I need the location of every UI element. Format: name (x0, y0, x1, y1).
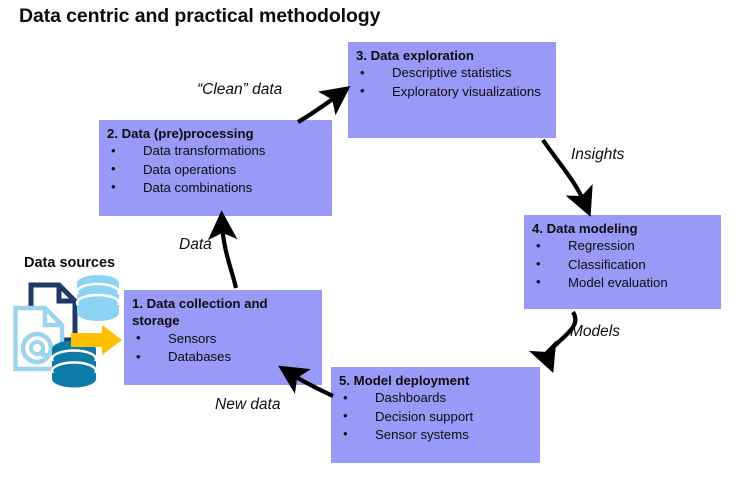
bullet-icon: • (111, 160, 116, 178)
bullet-icon: • (111, 142, 116, 160)
edge-label-clean-data: “Clean” data (197, 81, 282, 99)
bullet-icon: • (536, 273, 541, 291)
list-item-label: Classification (568, 257, 646, 272)
edge-label-data: Data (179, 236, 212, 254)
box-5-title: 5. Model deployment (331, 367, 540, 389)
box-2-list: •Data transformations •Data operations •… (99, 142, 332, 197)
list-item: •Exploratory visualizations (358, 83, 550, 101)
list-item-label: Model evaluation (568, 275, 668, 290)
bullet-icon: • (536, 237, 541, 255)
list-item-label: Exploratory visualizations (392, 84, 541, 99)
box-5-model-deployment[interactable]: 5. Model deployment •Dashboards •Decisio… (331, 367, 540, 463)
box-1-list: •Sensors •Databases (124, 330, 322, 366)
list-item: •Decision support (341, 408, 534, 426)
box-4-list: •Regression •Classification •Model evalu… (524, 237, 721, 292)
box-3-title: 3. Data exploration (348, 42, 556, 64)
data-sources-label: Data sources (24, 255, 115, 271)
box-4-data-modeling[interactable]: 4. Data modeling •Regression •Classifica… (524, 215, 721, 309)
arrow-clean-data (298, 93, 341, 122)
list-item-label: Dashboards (375, 390, 446, 405)
bullet-icon: • (536, 255, 541, 273)
database-cylinder-light-icon (73, 274, 123, 322)
edge-label-models: Models (570, 323, 620, 341)
list-item-label: Data operations (143, 162, 236, 177)
list-item: •Descriptive statistics (358, 64, 550, 82)
bullet-icon: • (136, 348, 141, 366)
page-title: Data centric and practical methodology (19, 5, 380, 28)
list-item: •Data operations (109, 161, 326, 179)
bullet-icon: • (343, 407, 348, 425)
list-item: •Data transformations (109, 142, 326, 160)
list-item: •Classification (534, 256, 715, 274)
list-item: •Sensors (134, 330, 316, 348)
bullet-icon: • (136, 329, 141, 347)
box-2-data-preprocessing[interactable]: 2. Data (pre)processing •Data transforma… (99, 120, 332, 216)
bullet-icon: • (343, 425, 348, 443)
list-item: •Data combinations (109, 179, 326, 197)
list-item-label: Sensor systems (375, 427, 469, 442)
list-item-label: Decision support (375, 409, 473, 424)
box-1-title: 1. Data collection and storage (124, 290, 322, 330)
list-item: •Dashboards (341, 389, 534, 407)
list-item-label: Databases (168, 349, 231, 364)
list-item: •Sensor systems (341, 426, 534, 444)
yellow-arrow-icon (71, 324, 123, 356)
list-item: •Databases (134, 348, 316, 366)
list-item-label: Descriptive statistics (392, 65, 511, 80)
bullet-icon: • (111, 178, 116, 196)
box-1-data-collection[interactable]: 1. Data collection and storage •Sensors … (124, 290, 322, 385)
list-item: •Model evaluation (534, 274, 715, 292)
bullet-icon: • (343, 389, 348, 407)
box-3-data-exploration[interactable]: 3. Data exploration •Descriptive statist… (348, 42, 556, 138)
arrow-data (222, 222, 236, 288)
box-4-title: 4. Data modeling (524, 215, 721, 237)
edge-label-insights: Insights (571, 146, 624, 164)
diagram-canvas: Data centric and practical methodology D… (0, 0, 744, 477)
bullet-icon: • (360, 82, 365, 100)
box-2-title: 2. Data (pre)processing (99, 120, 332, 142)
list-item-label: Sensors (168, 331, 216, 346)
box-5-list: •Dashboards •Decision support •Sensor sy… (331, 389, 540, 444)
edge-label-new-data: New data (215, 396, 280, 414)
list-item-label: Data transformations (143, 143, 265, 158)
box-3-list: •Descriptive statistics •Exploratory vis… (348, 64, 556, 100)
list-item: •Regression (534, 237, 715, 255)
bullet-icon: • (360, 64, 365, 82)
list-item-label: Regression (568, 238, 635, 253)
list-item-label: Data combinations (143, 180, 252, 195)
